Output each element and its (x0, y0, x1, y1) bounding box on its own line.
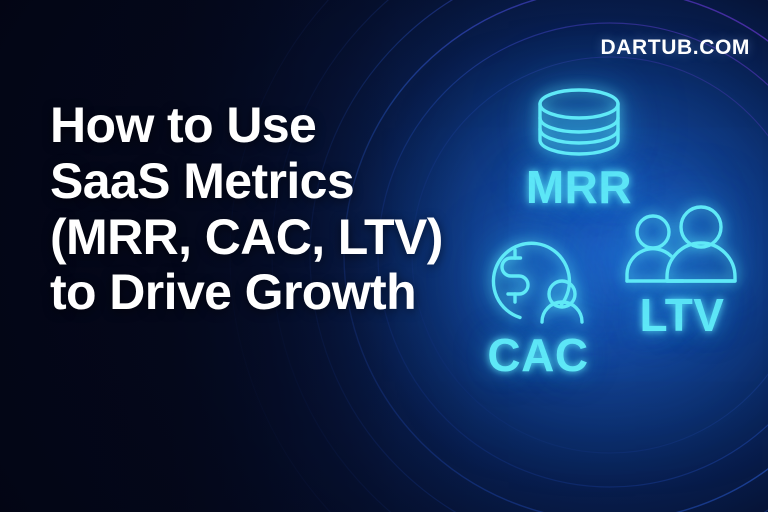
title-line-3: (MRR, CAC, LTV) (50, 210, 430, 266)
database-stack-icon (500, 86, 658, 158)
brand-watermark: DARTUB.COM (601, 36, 750, 60)
metric-mrr: MRR (500, 86, 658, 214)
dollar-circle-person-icon (458, 224, 618, 328)
metric-cac-label: CAC (458, 328, 618, 382)
two-people-icon (608, 204, 756, 288)
title-line-4: to Drive Growth (50, 265, 430, 321)
page-title: How to Use SaaS Metrics (MRR, CAC, LTV) … (50, 98, 430, 321)
poster-canvas: DARTUB.COM How to Use SaaS Metrics (MRR,… (0, 0, 768, 512)
title-line-1: How to Use (50, 98, 430, 154)
metric-ltv-label: LTV (608, 288, 756, 342)
title-line-2: SaaS Metrics (50, 154, 430, 210)
metric-cac: CAC (458, 224, 618, 382)
metric-ltv: LTV (608, 204, 756, 342)
